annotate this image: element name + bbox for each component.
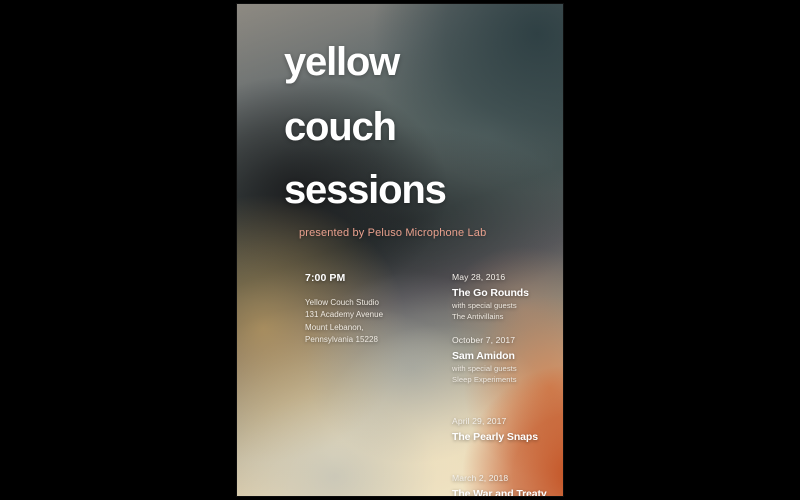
- events-column: May 28, 2016 The Go Rounds with special …: [452, 272, 563, 496]
- venue-name: Yellow Couch Studio: [305, 297, 435, 309]
- headline-line-1: yellow: [284, 42, 399, 82]
- event-listing: April 29, 2017 The Pearly Snaps: [452, 416, 563, 443]
- concert-poster: yellow couch sessions presented by Pelus…: [237, 4, 563, 496]
- poster-details-block: 7:00 PM Yellow Couch Studio 131 Academy …: [237, 272, 563, 492]
- presented-by-subtitle: presented by Peluso Microphone Lab: [299, 227, 486, 239]
- event-artist: The Pearly Snaps: [452, 431, 563, 443]
- event-listing: March 2, 2018 The War and Treaty: [452, 473, 563, 496]
- venue-region: Pennsylvania 15228: [305, 334, 435, 346]
- venue-city: Mount Lebanon,: [305, 322, 435, 334]
- event-guest-label: with special guests: [452, 363, 563, 374]
- event-artist: Sam Amidon: [452, 350, 563, 362]
- screenshot-canvas: yellow couch sessions presented by Pelus…: [0, 0, 800, 500]
- headline-line-2: couch: [284, 107, 396, 147]
- poster-content: yellow couch sessions presented by Pelus…: [237, 4, 563, 496]
- event-date: March 2, 2018: [452, 473, 563, 483]
- event-date: April 29, 2017: [452, 416, 563, 426]
- headline-line-3: sessions: [284, 170, 446, 210]
- event-artist: The Go Rounds: [452, 287, 563, 299]
- showtime-label: 7:00 PM: [305, 272, 435, 284]
- event-guest-label: with special guests: [452, 300, 563, 311]
- event-listing: October 7, 2017 Sam Amidon with special …: [452, 335, 563, 385]
- venue-column: 7:00 PM Yellow Couch Studio 131 Academy …: [305, 272, 435, 347]
- venue-street: 131 Academy Avenue: [305, 309, 435, 321]
- event-guest-name: The Antivillains: [452, 311, 563, 322]
- event-guest-name: Sleep Experiments: [452, 374, 563, 385]
- event-date: May 28, 2016: [452, 272, 563, 282]
- event-date: October 7, 2017: [452, 335, 563, 345]
- event-artist: The War and Treaty: [452, 488, 563, 496]
- event-listing: May 28, 2016 The Go Rounds with special …: [452, 272, 563, 322]
